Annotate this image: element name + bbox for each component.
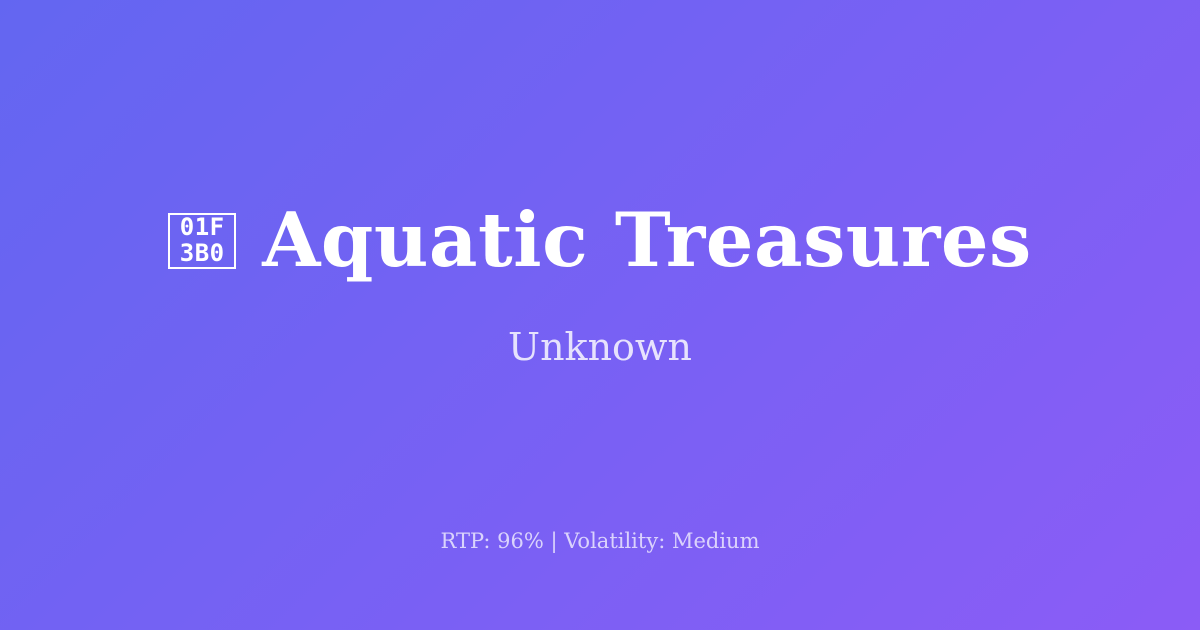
title-row: 01F 3B0 Aquatic Treasures	[168, 201, 1032, 281]
slot-machine-icon: 01F 3B0	[168, 213, 236, 269]
og-card-canvas: { "theme": { "gradient_from": "#6366F1",…	[0, 0, 1200, 630]
game-provider-subtitle: Unknown	[508, 325, 692, 371]
game-stats-line: RTP: 96% | Volatility: Medium	[0, 529, 1200, 554]
slot-machine-icon-codepoint-bottom: 3B0	[180, 241, 225, 267]
slot-machine-icon-codepoint-top: 01F	[180, 215, 225, 241]
page-title: Aquatic Treasures	[262, 201, 1032, 281]
game-hero-card: 01F 3B0 Aquatic Treasures Unknown	[0, 201, 1200, 370]
